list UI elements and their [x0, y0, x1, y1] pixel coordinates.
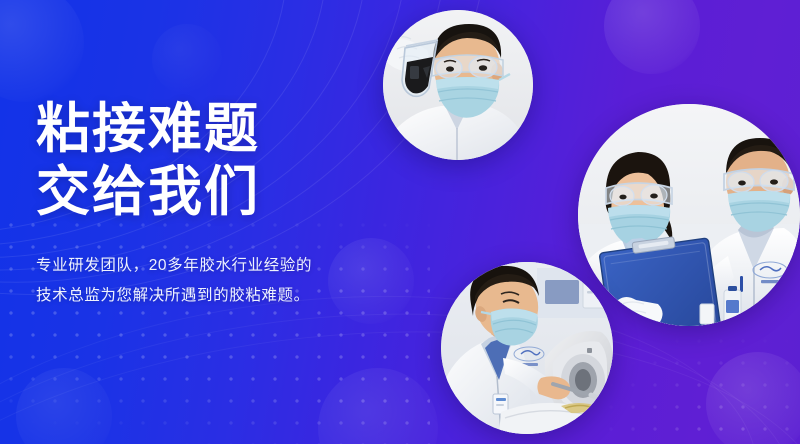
glow-circle-decor: [604, 0, 700, 74]
glow-circle-decor: [152, 24, 222, 94]
subtitle-line-1: 专业研发团队，20多年胶水行业经验的: [36, 251, 376, 281]
headline-line-1: 粘接难题: [36, 98, 376, 161]
headline-block: 粘接难题 交给我们 专业研发团队，20多年胶水行业经验的 技术总监为您解决所遇到…: [36, 98, 376, 312]
photo-two-technicians-clipboard: [578, 104, 800, 326]
headline-line-2-wrapper: 交给我们: [36, 161, 376, 224]
photo-scientist-with-beaker: [383, 10, 533, 160]
subtitle-line-2: 技术总监为您解决所遇到的胶粘难题。: [36, 281, 376, 311]
photo-technician-applying-adhesive: [441, 262, 613, 434]
subtitle-block: 专业研发团队，20多年胶水行业经验的 技术总监为您解决所遇到的胶粘难题。: [36, 251, 376, 311]
promo-banner: 粘接难题 交给我们 专业研发团队，20多年胶水行业经验的 技术总监为您解决所遇到…: [0, 0, 800, 444]
headline-line-2: 交给我们: [36, 162, 260, 222]
